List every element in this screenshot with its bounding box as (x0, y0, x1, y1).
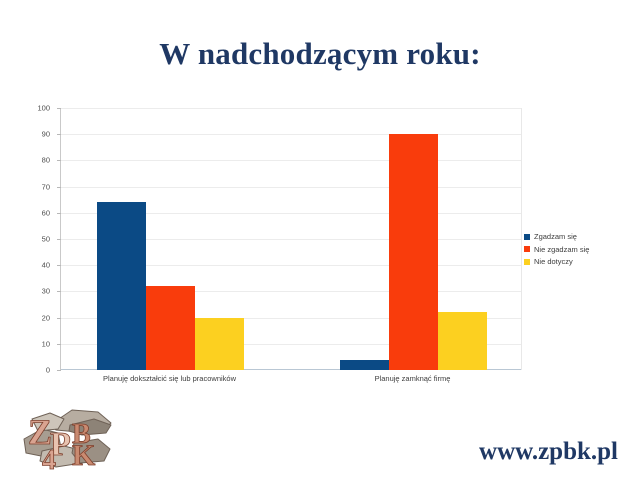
y-axis-tick-label: 80 (42, 156, 50, 165)
bar[interactable] (438, 312, 487, 370)
y-axis-tick-label: 0 (46, 366, 50, 375)
legend-swatch-icon (524, 234, 530, 240)
legend-swatch-icon (524, 246, 530, 252)
svg-text:4: 4 (42, 445, 56, 475)
x-axis-category-label: Planuję zamknąć firmę (375, 374, 451, 383)
plot-area (60, 108, 522, 370)
legend-item[interactable]: Zgadzam się (524, 232, 634, 241)
y-axis-tick-label: 40 (42, 261, 50, 270)
legend-item-label: Zgadzam się (534, 232, 577, 241)
y-axis-tick-label: 90 (42, 130, 50, 139)
y-axis-tick-label: 30 (42, 287, 50, 296)
legend-item[interactable]: Nie dotyczy (524, 257, 634, 266)
bar[interactable] (389, 134, 438, 370)
svg-text:K: K (72, 439, 96, 472)
website-url: www.zpbk.pl (479, 438, 618, 466)
y-axis-tick (57, 370, 61, 371)
chart-legend: Zgadzam sięNie zgadzam sięNie dotyczy (524, 232, 634, 270)
bar[interactable] (340, 360, 389, 370)
legend-item-label: Nie dotyczy (534, 257, 573, 266)
y-axis-tick-label: 10 (42, 339, 50, 348)
legend-item-label: Nie zgadzam się (534, 245, 589, 254)
y-axis-tick-label: 70 (42, 182, 50, 191)
y-axis-tick-label: 50 (42, 235, 50, 244)
y-axis: 0102030405060708090100 (22, 108, 54, 370)
page-title: W nadchodzącym roku: (0, 36, 640, 72)
bar[interactable] (146, 286, 195, 370)
bars-container (61, 108, 521, 370)
bar[interactable] (195, 318, 244, 370)
y-axis-tick-label: 60 (42, 208, 50, 217)
bar[interactable] (97, 202, 146, 370)
y-axis-tick-label: 20 (42, 313, 50, 322)
x-axis-labels: Planuję dokształcić się lub pracownikówP… (60, 374, 522, 390)
bar-group (340, 108, 487, 370)
zpbk-logo-icon: Z P B K 4 (12, 399, 120, 475)
bar-group (97, 108, 244, 370)
y-axis-tick-label: 100 (37, 104, 50, 113)
x-axis-category-label: Planuję dokształcić się lub pracowników (103, 374, 236, 383)
legend-swatch-icon (524, 259, 530, 265)
legend-item[interactable]: Nie zgadzam się (524, 245, 634, 254)
